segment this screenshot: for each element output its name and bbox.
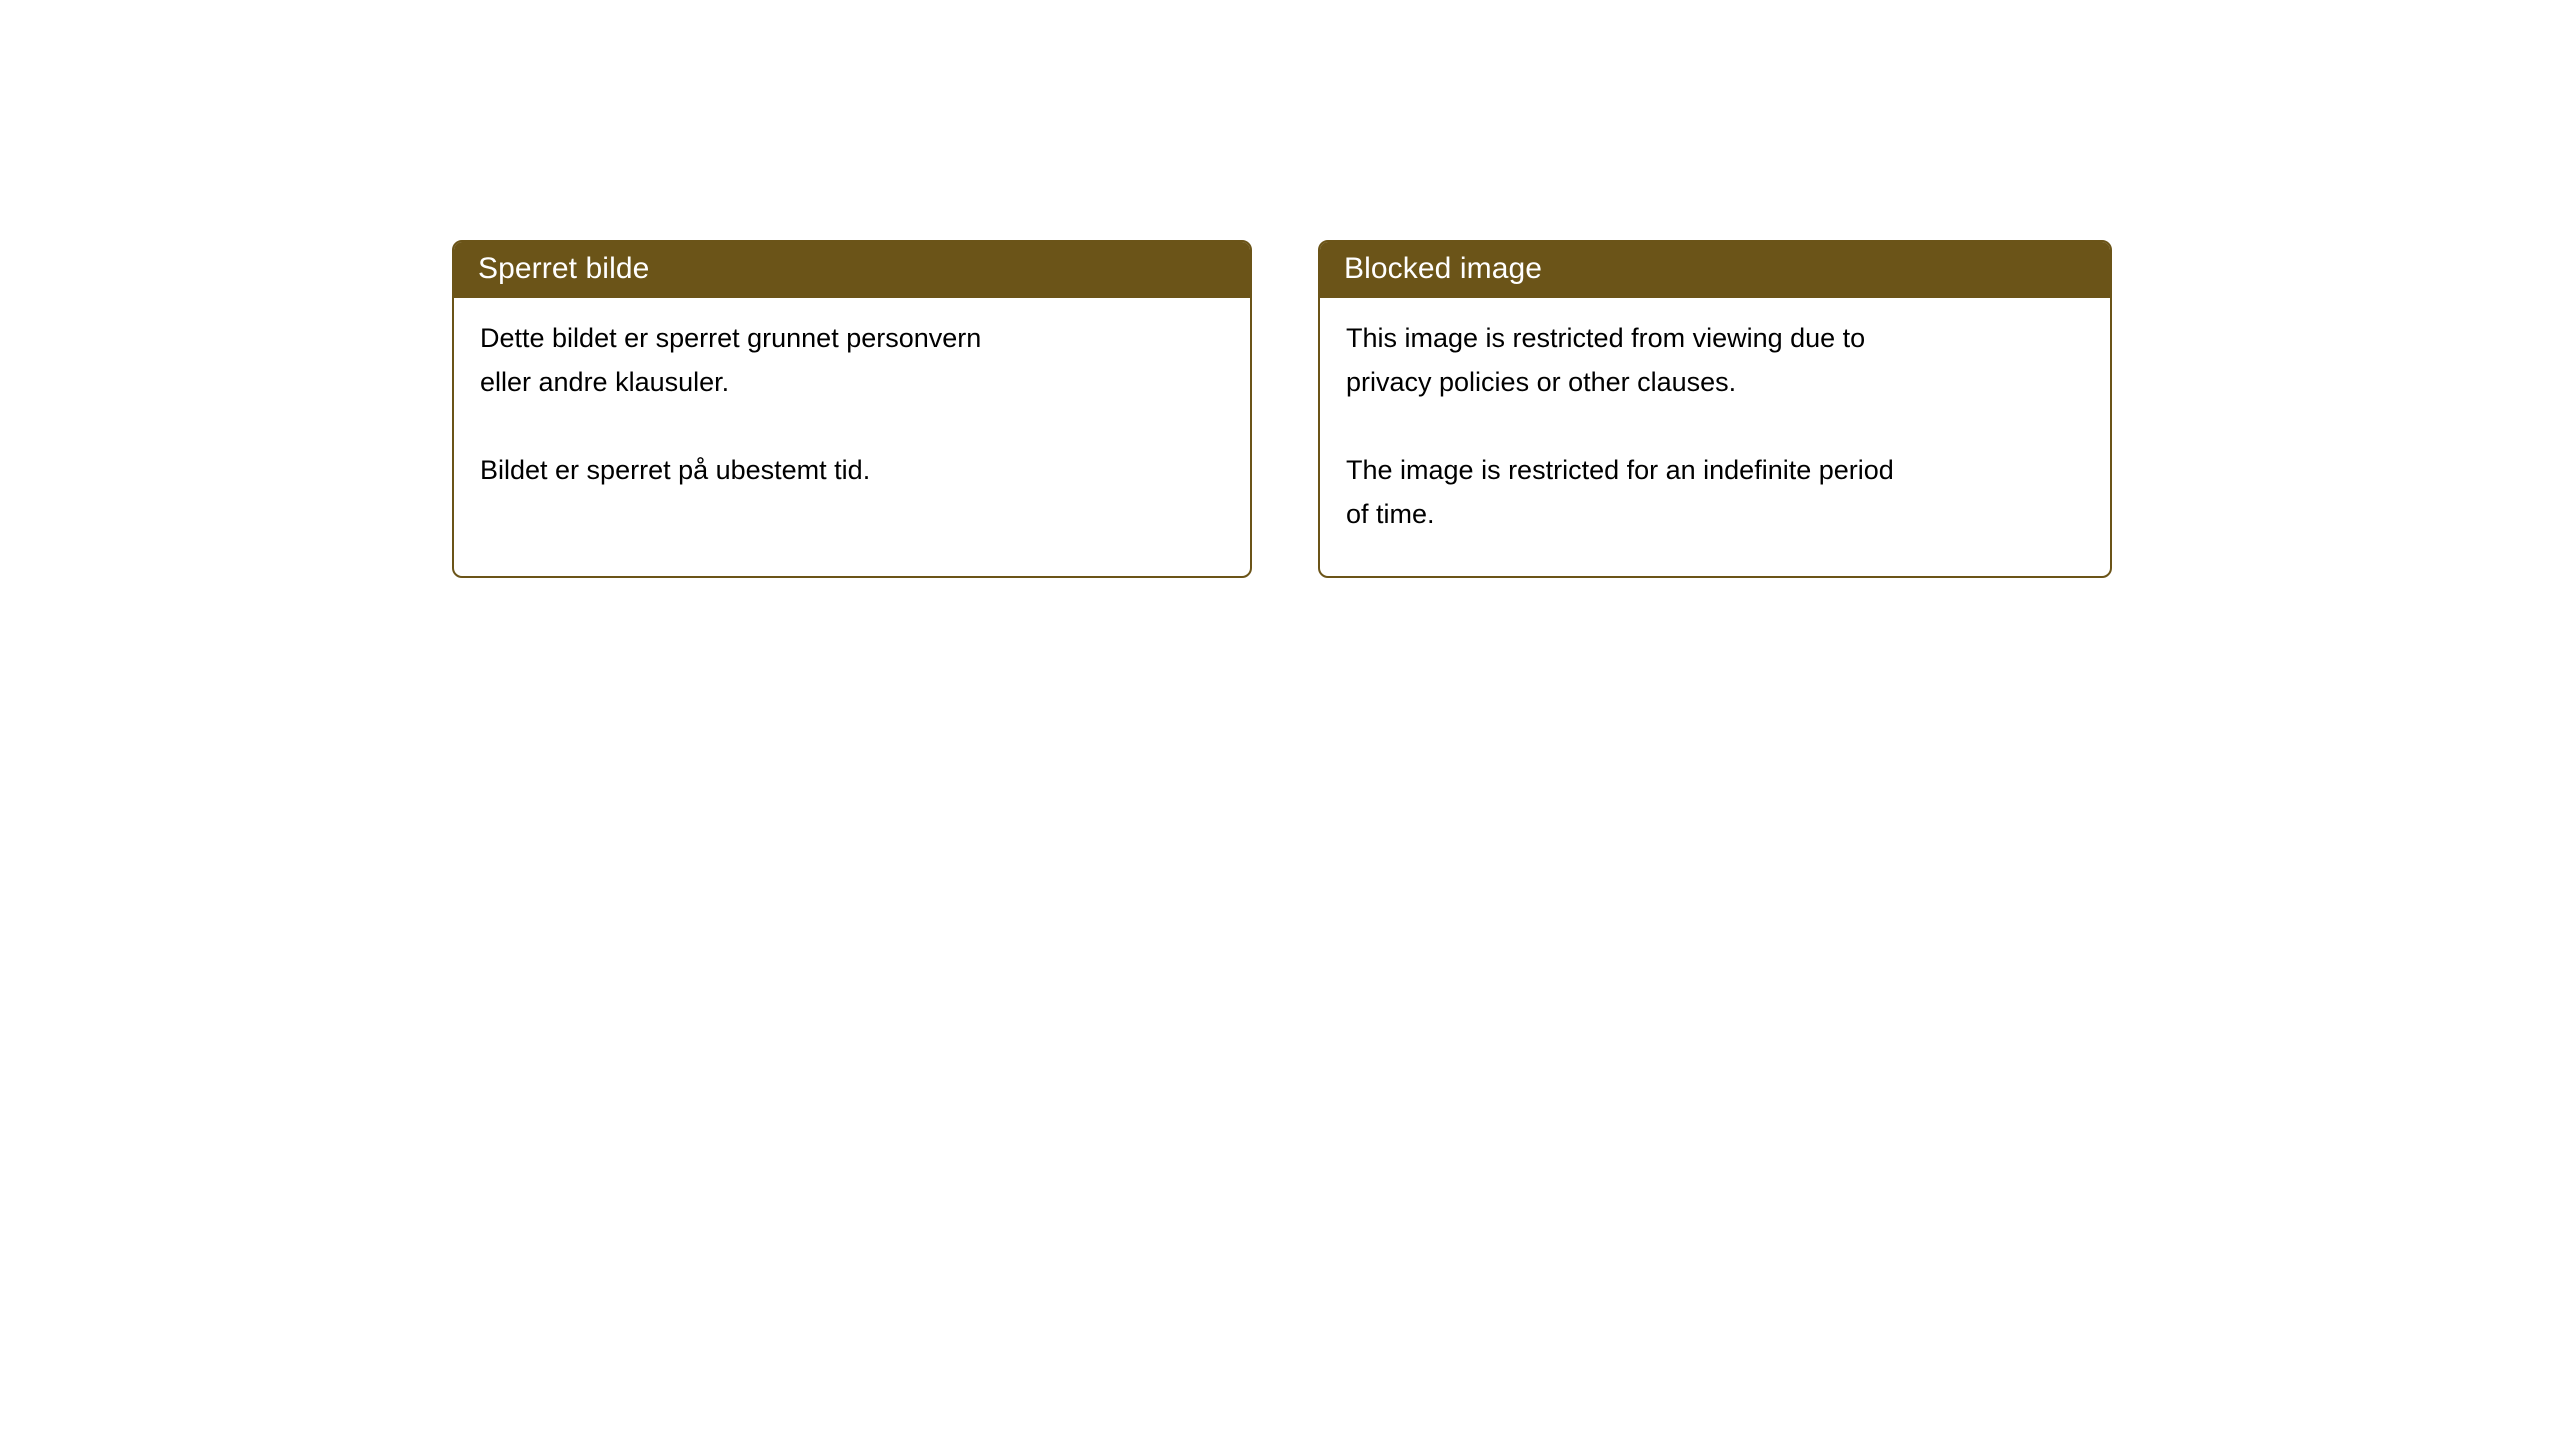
card-title-en: Blocked image xyxy=(1344,254,1542,284)
blocked-image-card-en: Blocked image This image is restricted f… xyxy=(1318,240,2112,578)
card-paragraph-no-1: Dette bildet er sperret grunnet personve… xyxy=(480,316,1224,404)
page-canvas: Sperret bilde Dette bildet er sperret gr… xyxy=(0,0,2560,1440)
card-paragraph-en-2: The image is restricted for an indefinit… xyxy=(1346,448,2084,536)
card-body-en: This image is restricted from viewing du… xyxy=(1320,298,2110,536)
card-body-no: Dette bildet er sperret grunnet personve… xyxy=(454,298,1250,492)
card-header-en: Blocked image xyxy=(1318,240,2112,298)
card-paragraph-no-2: Bildet er sperret på ubestemt tid. xyxy=(480,448,1224,492)
card-title-no: Sperret bilde xyxy=(478,254,649,284)
card-paragraph-en-1: This image is restricted from viewing du… xyxy=(1346,316,2084,404)
card-header-no: Sperret bilde xyxy=(452,240,1252,298)
blocked-image-card-no: Sperret bilde Dette bildet er sperret gr… xyxy=(452,240,1252,578)
